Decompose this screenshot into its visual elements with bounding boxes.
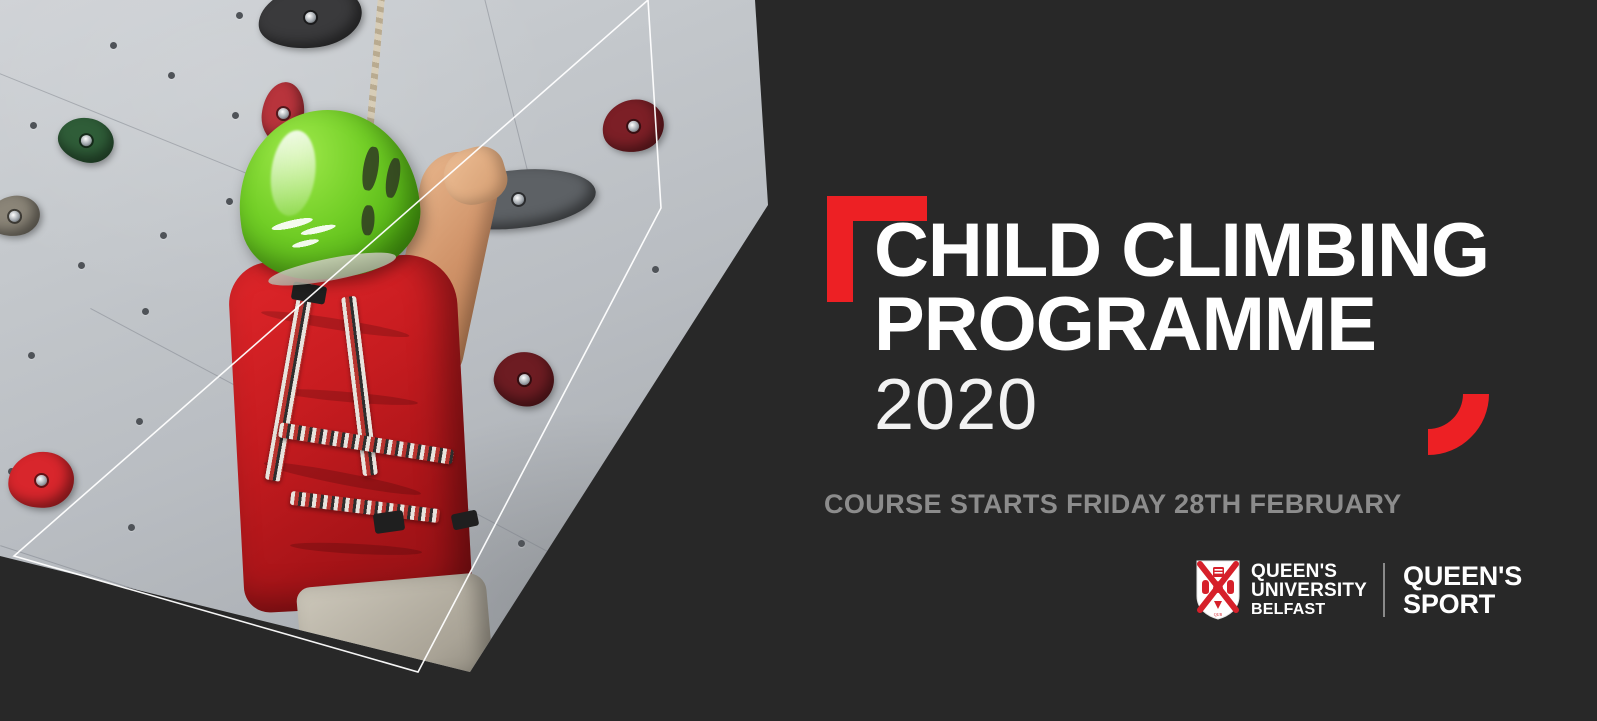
child-climbing-programme-banner: CHILD CLIMBING PROGRAMME 2020 COURSE STA…	[0, 0, 1597, 721]
title-year: 2020	[874, 362, 1489, 448]
page-title: CHILD CLIMBING PROGRAMME 2020	[874, 214, 1489, 448]
title-line-1: CHILD CLIMBING	[874, 214, 1489, 288]
university-line-3: BELFAST	[1251, 601, 1367, 619]
sport-line-2: SPORT	[1403, 590, 1522, 618]
university-wordmark: QUEEN'S UNIVERSITY BELFAST	[1251, 562, 1367, 619]
sport-line-1: QUEEN'S	[1403, 563, 1522, 590]
title-line-2: PROGRAMME	[874, 288, 1489, 362]
svg-text:QUB: QUB	[1214, 612, 1223, 617]
university-line-1: QUEEN'S	[1251, 562, 1367, 581]
university-line-2: UNIVERSITY	[1251, 581, 1367, 601]
logo-divider	[1383, 563, 1385, 617]
queens-university-belfast-crest-icon: QUB	[1196, 560, 1240, 620]
queens-sport-wordmark: QUEEN'S SPORT	[1403, 563, 1522, 618]
course-start-subtitle: COURSE STARTS FRIDAY 28TH FEBRUARY	[824, 489, 1402, 520]
banner-content: CHILD CLIMBING PROGRAMME 2020 COURSE STA…	[0, 0, 1597, 721]
logo-lockup: QUB QUEEN'S UNIVERSITY BELFAST QUEEN'S S…	[1196, 560, 1522, 620]
